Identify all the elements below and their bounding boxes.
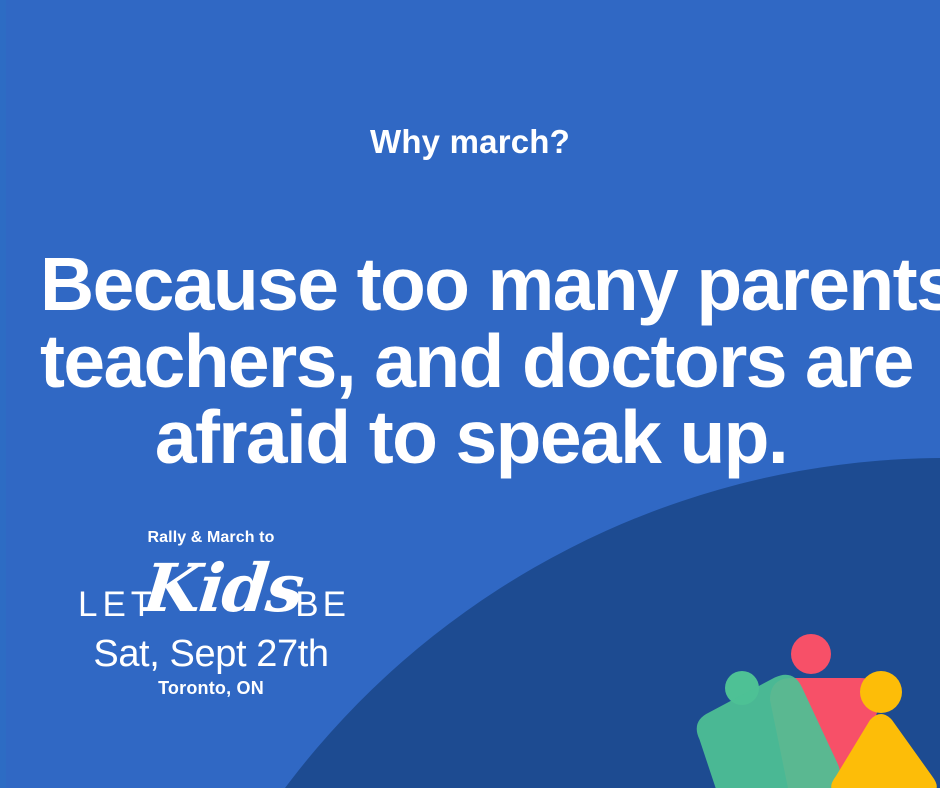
poster-canvas: Why march? Because too many parents, tea… [0, 0, 940, 788]
event-logo-block: Rally & March to LET Kids BE Sat, Sept 2… [66, 528, 356, 699]
logo-eyebrow-text: Rally & March to [66, 528, 356, 547]
headline-line-3: afraid to speak up. [40, 399, 902, 476]
pink-figure-head-icon [791, 634, 831, 674]
wordmark-kids: Kids [141, 555, 306, 621]
wordmark-be: BE [295, 587, 350, 622]
kicker-text: Why march? [0, 124, 940, 160]
headline-line-1: Because too many parents, [40, 246, 902, 323]
event-date-text: Sat, Sept 27th [66, 635, 356, 675]
people-figures-svg [660, 620, 940, 788]
left-edge-strip [0, 0, 6, 788]
headline-line-2: teachers, and doctors are [40, 323, 902, 400]
event-city-text: Toronto, ON [66, 679, 356, 699]
yellow-figure-head-icon [860, 671, 902, 713]
let-kids-be-wordmark: LET Kids BE [66, 553, 356, 631]
people-figures-mark [660, 620, 940, 788]
headline: Because too many parents, teachers, and … [40, 246, 902, 476]
